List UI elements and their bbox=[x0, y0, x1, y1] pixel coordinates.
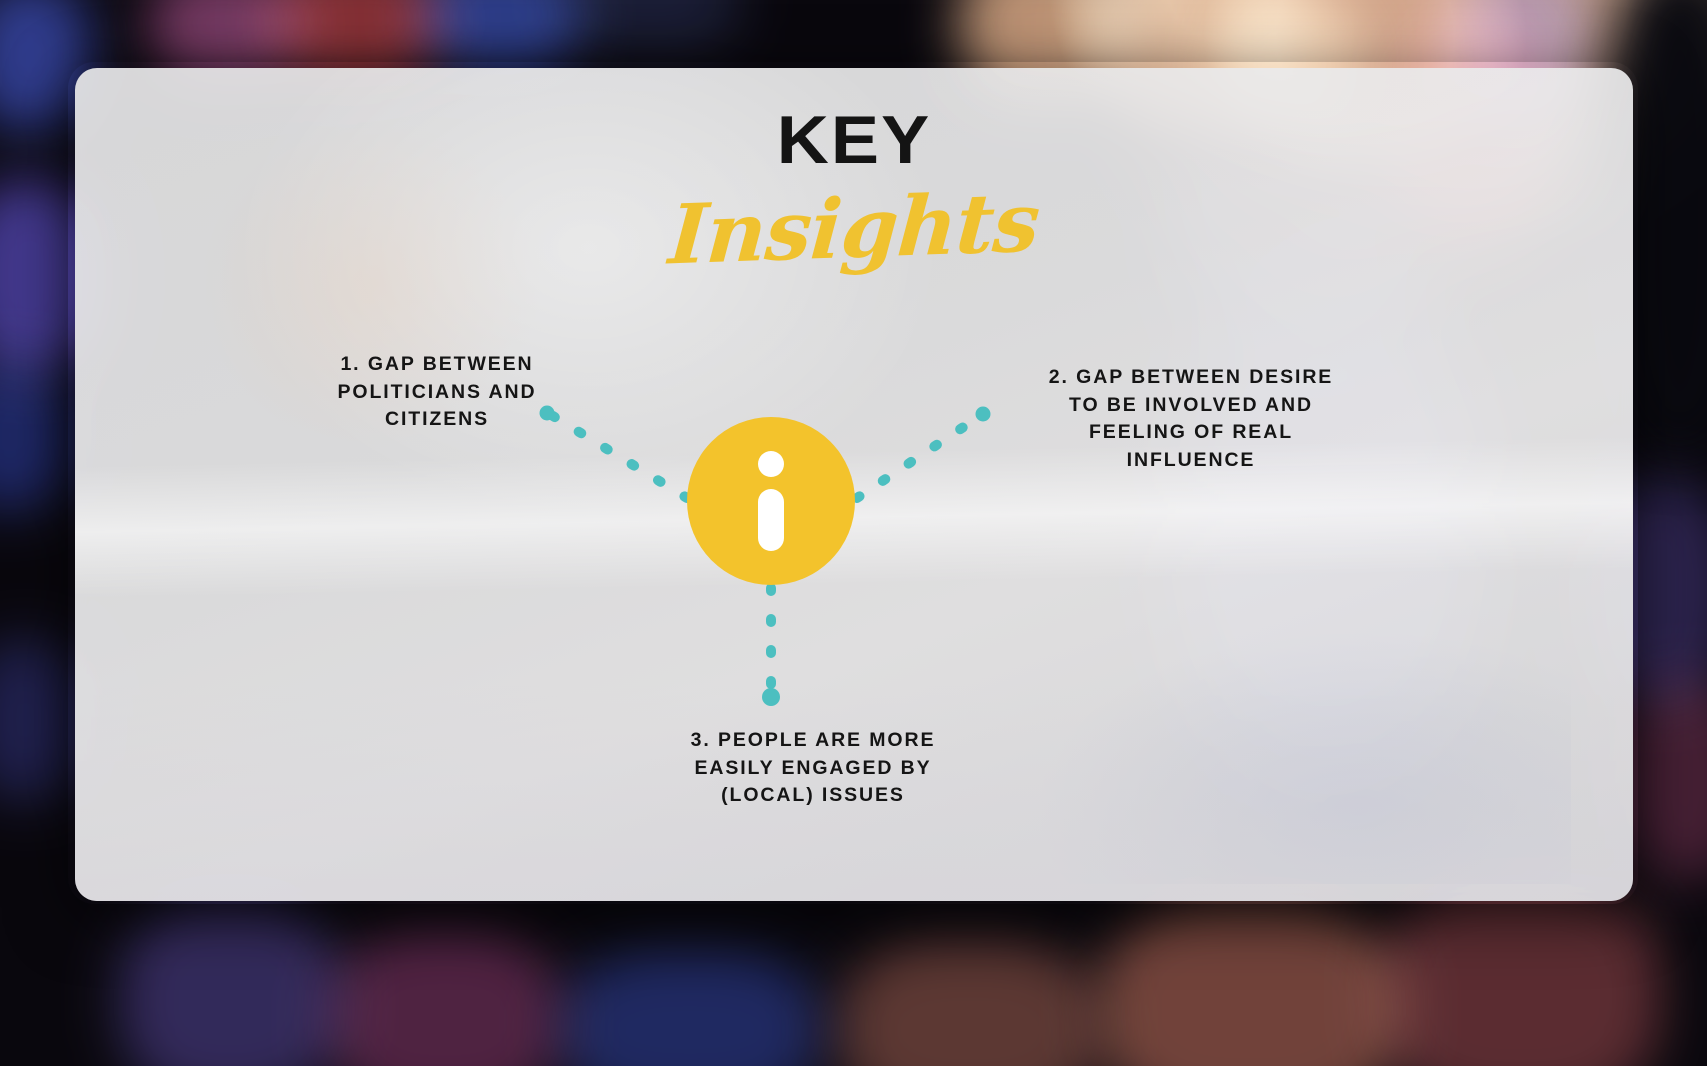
insight-label-1: 1. GAP BETWEEN POLITICIANS AND CITIZENS bbox=[263, 351, 611, 434]
content-card: KEY Insights bbox=[75, 68, 1633, 901]
connector-line-right bbox=[857, 418, 977, 498]
insight-2-line-3: FEELING OF REAL bbox=[995, 419, 1387, 447]
insight-1-line-3: CITIZENS bbox=[263, 406, 611, 434]
insight-1-line-2: POLITICIANS AND bbox=[263, 379, 611, 407]
hub-circle[interactable] bbox=[687, 417, 855, 585]
insight-label-3: 3. PEOPLE ARE MORE EASILY ENGAGED BY (LO… bbox=[621, 727, 1005, 810]
insight-1-line-1: 1. GAP BETWEEN bbox=[263, 351, 611, 379]
insights-diagram: 1. GAP BETWEEN POLITICIANS AND CITIZENS … bbox=[75, 68, 1633, 901]
insight-2-line-1: 2. GAP BETWEEN DESIRE bbox=[995, 364, 1387, 392]
bg-blob-bottom-2 bbox=[330, 930, 560, 1066]
information-icon-dot bbox=[758, 451, 784, 477]
insight-2-line-4: INFLUENCE bbox=[995, 447, 1387, 475]
insight-3-line-2: EASILY ENGAGED BY bbox=[621, 755, 1005, 783]
information-icon-stem bbox=[758, 489, 784, 551]
connector-endpoint-bottom bbox=[762, 688, 780, 706]
insight-2-line-2: TO BE INVOLVED AND bbox=[995, 392, 1387, 420]
bg-blob-bottom-4 bbox=[840, 940, 1100, 1066]
bg-blob-bottom-6 bbox=[1380, 880, 1660, 1066]
insight-label-2: 2. GAP BETWEEN DESIRE TO BE INVOLVED AND… bbox=[995, 364, 1387, 475]
connector-endpoint-right bbox=[976, 407, 991, 422]
bg-blob-bottom-1 bbox=[120, 900, 340, 1066]
bg-blob-bottom-3 bbox=[560, 950, 820, 1066]
insight-3-line-3: (LOCAL) ISSUES bbox=[621, 782, 1005, 810]
bg-blob-bottom-5 bbox=[1100, 900, 1400, 1066]
bg-blob-screen-top-3 bbox=[420, 0, 580, 70]
insight-3-line-1: 3. PEOPLE ARE MORE bbox=[621, 727, 1005, 755]
information-icon bbox=[758, 451, 784, 551]
slide-canvas: KEY Insights bbox=[0, 0, 1707, 1066]
